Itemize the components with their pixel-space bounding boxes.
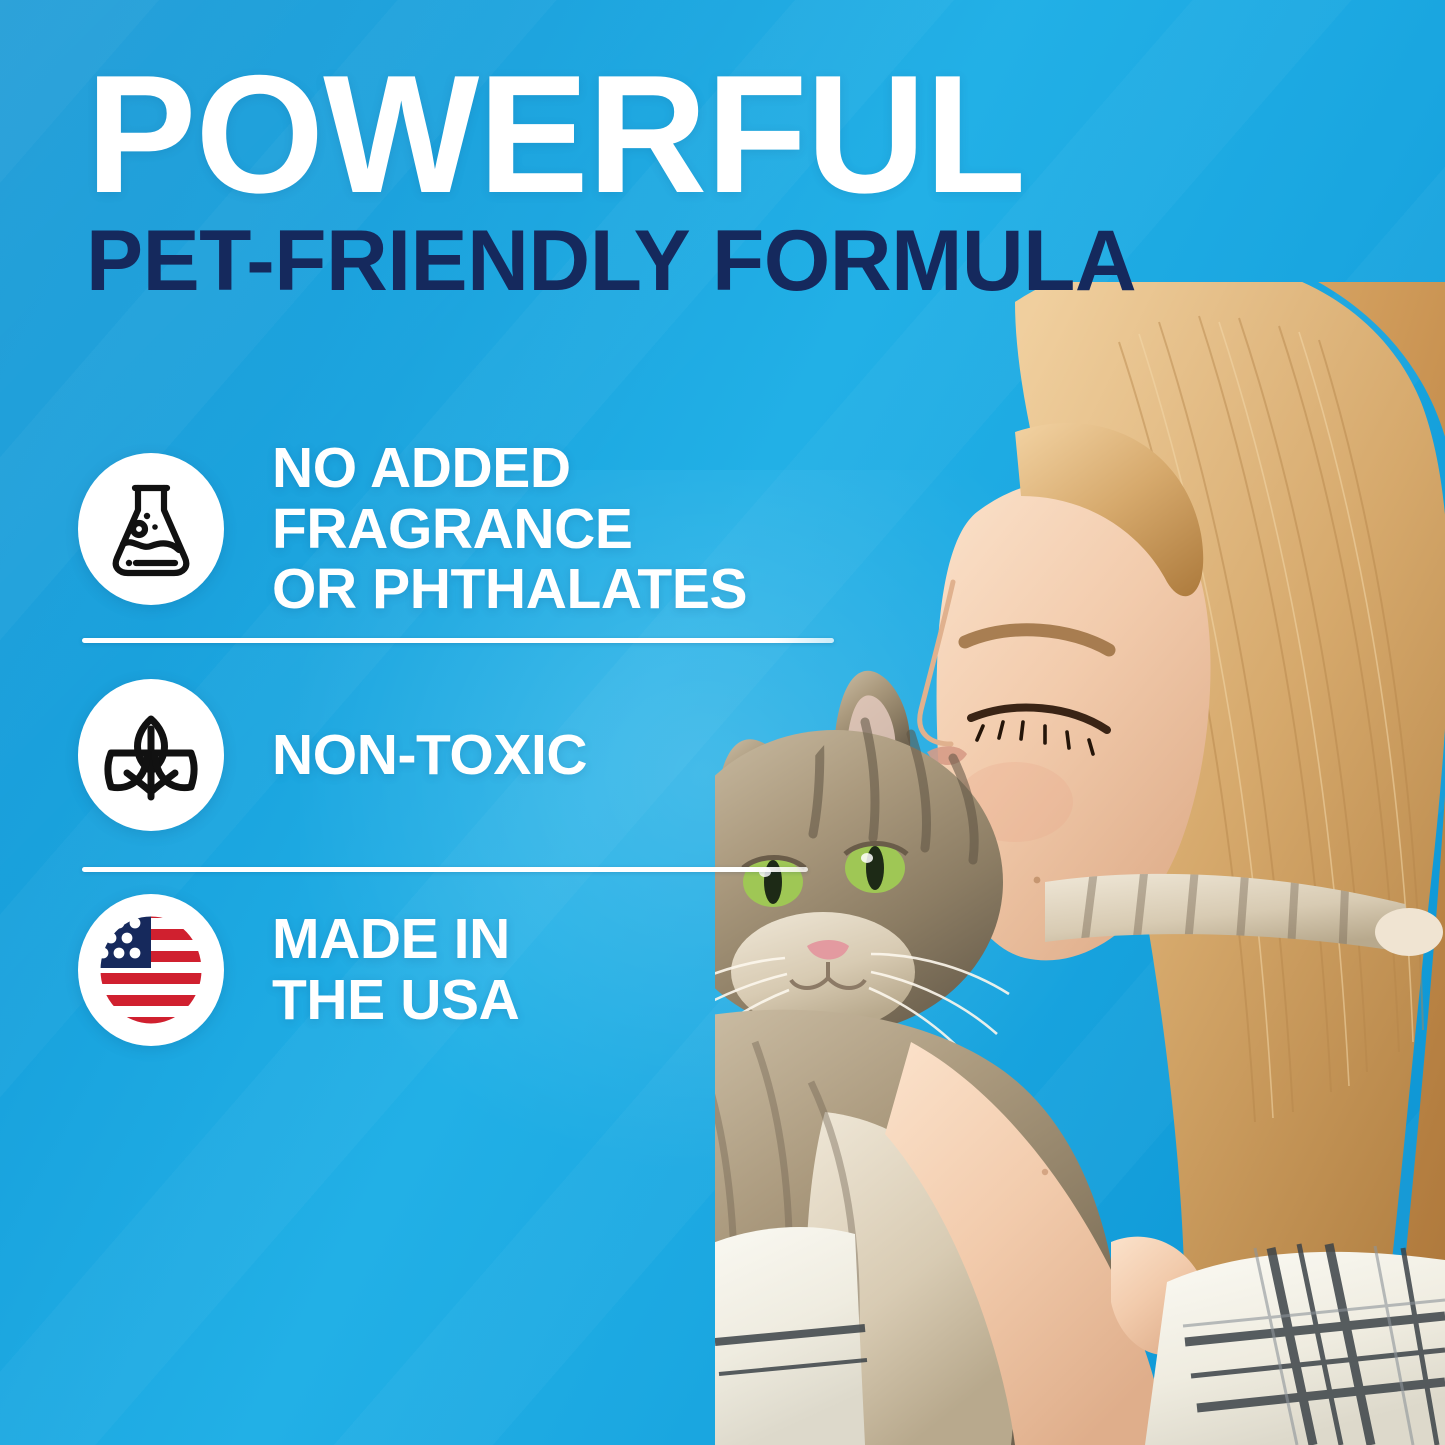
feature-label-1-line3: OR PHTHALATES [272, 559, 747, 620]
feature-badge-2 [78, 679, 224, 831]
feature-non-toxic: NON-TOXIC [78, 643, 908, 867]
feature-label-2: NON-TOXIC [272, 725, 587, 786]
feature-label-1-line2: FRAGRANCE [272, 499, 747, 560]
feature-list: NO ADDED FRAGRANCE OR PHTHALATES [78, 420, 908, 1068]
feature-label-2-line1: NON-TOXIC [272, 725, 587, 786]
feature-no-added-fragrance: NO ADDED FRAGRANCE OR PHTHALATES [78, 420, 908, 638]
feature-label-3-line2: THE USA [272, 970, 519, 1031]
flask-icon [105, 480, 197, 578]
headline-secondary: PET-FRIENDLY FORMULA [86, 222, 1220, 301]
headline-primary: POWERFUL [86, 62, 1209, 206]
feature-made-in-usa: MADE IN THE USA [78, 872, 908, 1068]
leaf-plant-icon [103, 705, 199, 805]
feature-label-3-line1: MADE IN [272, 909, 519, 970]
feature-label-1: NO ADDED FRAGRANCE OR PHTHALATES [272, 438, 747, 621]
feature-badge-1 [78, 453, 224, 605]
infographic-canvas: POWERFUL PET-FRIENDLY FORMULA [0, 0, 1445, 1445]
headline-block: POWERFUL PET-FRIENDLY FORMULA [86, 62, 1226, 302]
feature-badge-3 [78, 894, 224, 1046]
usa-flag-icon [85, 901, 217, 1039]
feature-label-3: MADE IN THE USA [272, 909, 519, 1031]
feature-label-1-line1: NO ADDED [272, 438, 747, 499]
